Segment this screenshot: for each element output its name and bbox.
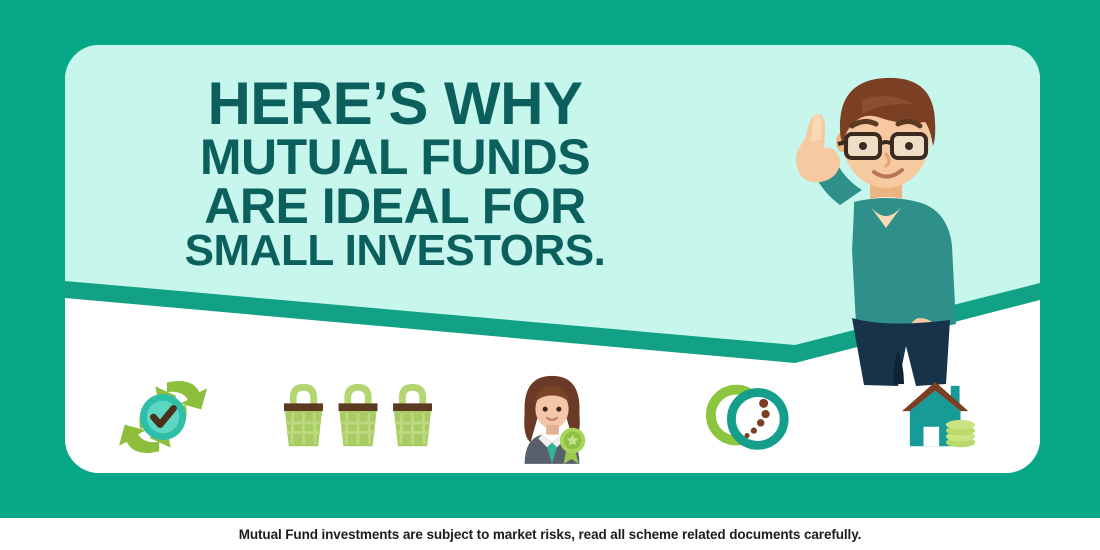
pointing-man-illustration: [770, 50, 1000, 390]
poster-canvas: HERE’S WHY MUTUAL FUNDS ARE IDEAL FOR SM…: [0, 0, 1100, 550]
icon-cell-5[interactable]: [845, 369, 1040, 469]
icon-cell-1[interactable]: [65, 369, 260, 469]
expert-manager-icon: [509, 370, 597, 469]
disclaimer-strip: Mutual Fund investments are subject to m…: [0, 518, 1100, 550]
baskets-icon: [279, 380, 437, 459]
icon-cell-2[interactable]: [260, 369, 455, 469]
exchange-check-icon: [115, 373, 211, 466]
icon-cell-3[interactable]: [455, 369, 650, 469]
icon-cell-4[interactable]: [650, 369, 845, 469]
rings-dots-icon: [701, 374, 795, 465]
headline-line-3: ARE IDEAL FOR: [65, 182, 725, 231]
disclaimer-text: Mutual Fund investments are subject to m…: [239, 527, 862, 542]
content-card: HERE’S WHY MUTUAL FUNDS ARE IDEAL FOR SM…: [65, 45, 1040, 473]
headline-line-1: HERE’S WHY: [65, 75, 725, 133]
house-coins-icon: [896, 378, 990, 461]
headline: HERE’S WHY MUTUAL FUNDS ARE IDEAL FOR SM…: [65, 75, 725, 273]
headline-line-4: SMALL INVESTORS.: [65, 230, 725, 273]
benefit-icon-row: [65, 365, 1040, 473]
headline-line-2: MUTUAL FUNDS: [65, 133, 725, 182]
